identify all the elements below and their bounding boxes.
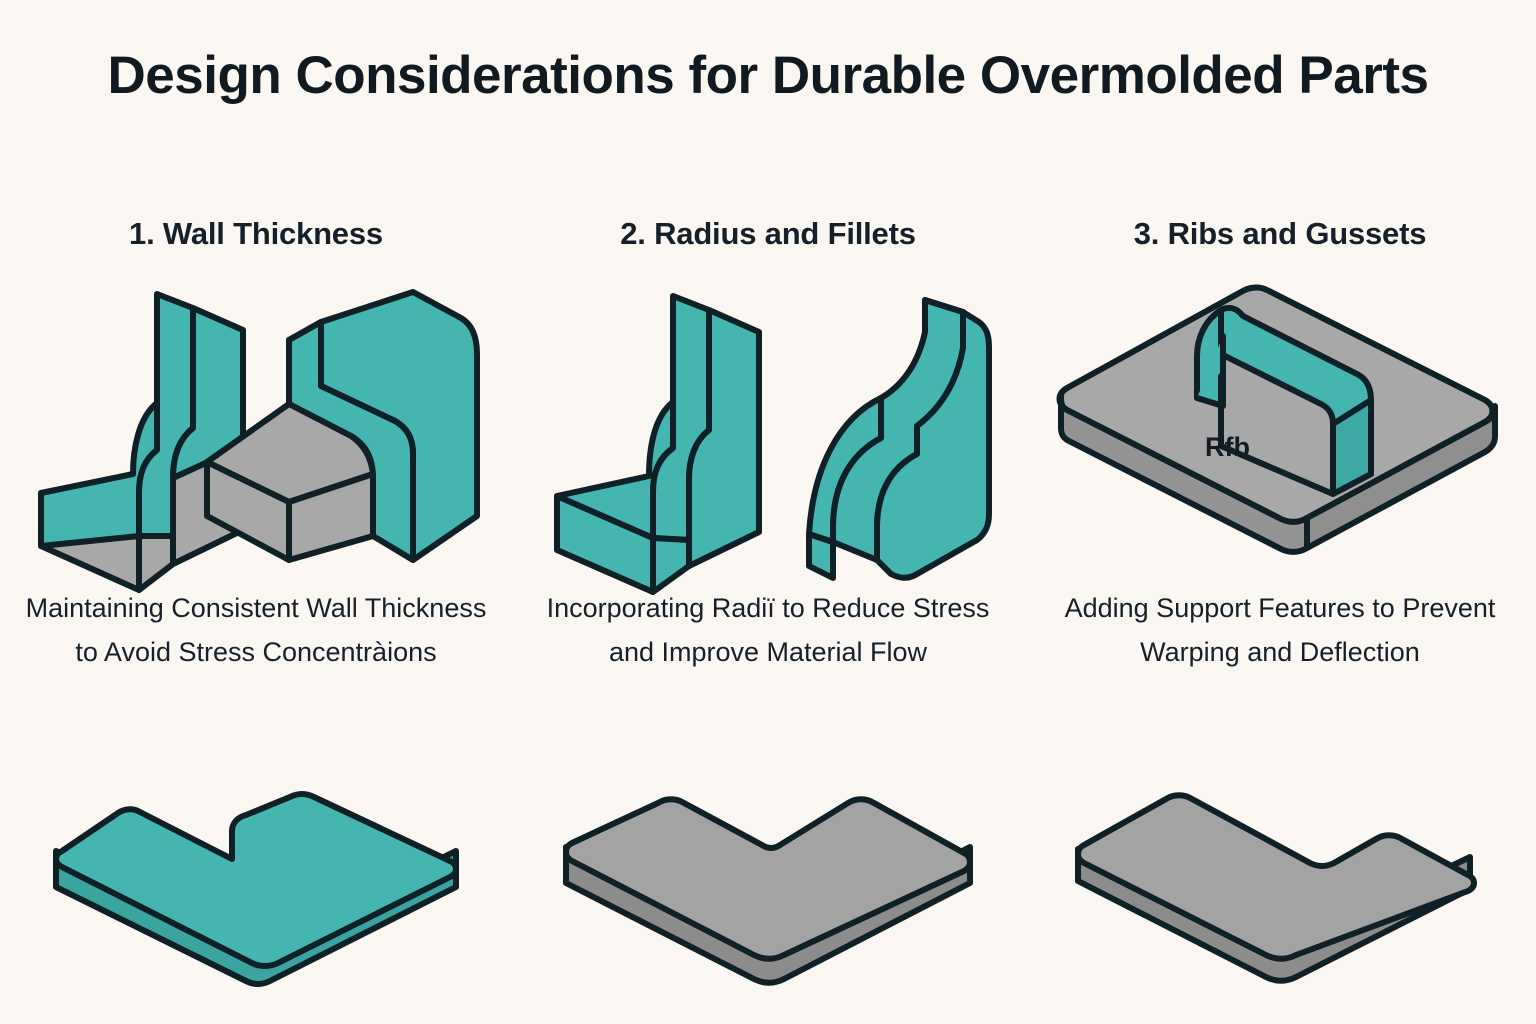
column-heading-3: 3. Ribs and Gussets: [1134, 214, 1427, 262]
bottom-cell-1: [0, 768, 512, 998]
infographic-poster: Design Considerations for Durable Overmo…: [0, 0, 1536, 1024]
rib-gusset-illustration: Rfb: [1045, 278, 1515, 578]
bottom-cell-2: [512, 768, 1024, 998]
column-heading-1: 1. Wall Thickness: [129, 214, 383, 262]
wall-thickness-illustration: [21, 278, 491, 578]
column-ribs-gussets: 3. Ribs and Gussets: [1024, 214, 1536, 674]
bottom-cell-3: [1024, 768, 1536, 998]
page-title: Design Considerations for Durable Overmo…: [96, 44, 1440, 109]
figure-wall-thickness-pair: [0, 278, 512, 578]
column-caption-3: Adding Support Features to Prevent Warpi…: [1045, 586, 1515, 674]
rib-label: Rfb: [1205, 432, 1250, 462]
column-caption-1: Maintaining Consistent Wall Thickness to…: [21, 586, 491, 674]
columns-container: 1. Wall Thickness: [0, 214, 1536, 674]
teal-notched-plate-illustration: [46, 783, 466, 983]
column-caption-2: Incorporating Radiï to Reduce Stress and…: [533, 586, 1003, 674]
gray-chevron-plate-illustration: [558, 783, 978, 983]
radius-fillet-illustration: [533, 278, 1003, 578]
figure-radius-fillet-pair: [512, 278, 1024, 578]
bottom-figures-row: [0, 768, 1536, 998]
column-radius-fillets: 2. Radius and Fillets: [512, 214, 1024, 674]
figure-rib-gusset-plate: Rfb: [1024, 278, 1536, 578]
column-wall-thickness: 1. Wall Thickness: [0, 214, 512, 674]
gray-l-plate-illustration: [1070, 783, 1490, 983]
column-heading-2: 2. Radius and Fillets: [620, 214, 916, 262]
